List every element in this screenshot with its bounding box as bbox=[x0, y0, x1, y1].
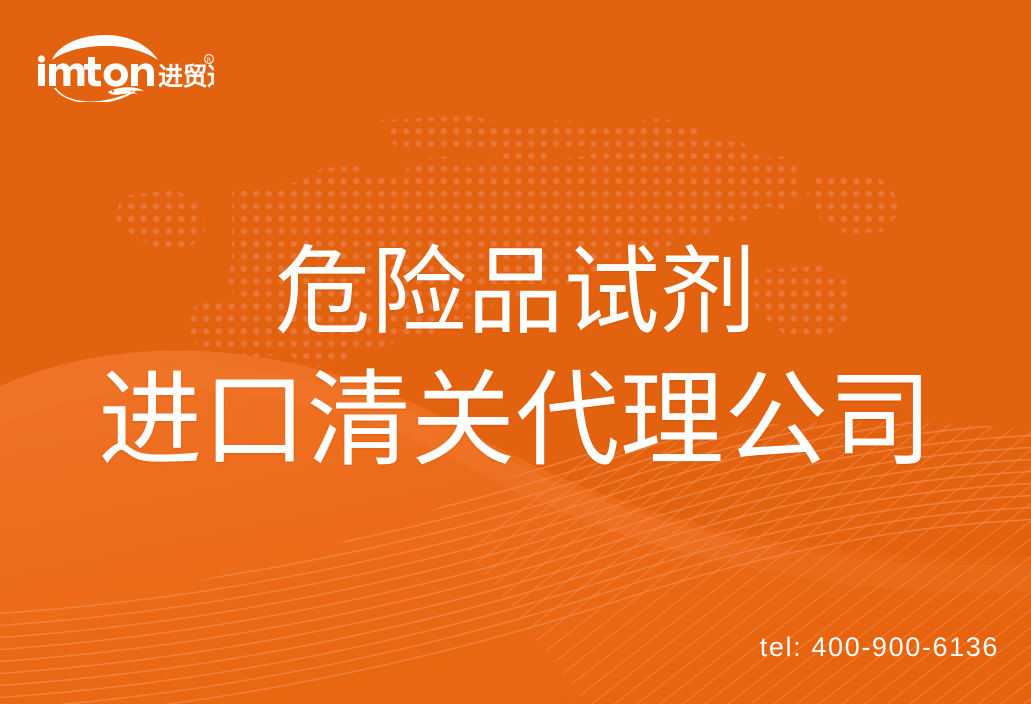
contact-phone[interactable]: tel: 400-900-6136 bbox=[760, 632, 999, 663]
page-title: 危险品试剂 进口清关代理公司 bbox=[0, 232, 1031, 488]
headline-line-2: 进口清关代理公司 bbox=[0, 355, 1031, 488]
svg-text:R: R bbox=[207, 57, 211, 64]
registered-trademark-icon: R bbox=[205, 55, 214, 64]
promo-banner: 进贸通 R 危险品试剂 进口清关代理公司 tel: 400-900-6136 bbox=[0, 0, 1031, 704]
swoosh-bird-icon bbox=[54, 87, 144, 102]
globe-arc-icon bbox=[52, 35, 158, 60]
logo-wordmark-latin bbox=[38, 55, 154, 86]
company-logo[interactable]: 进贸通 R bbox=[34, 30, 214, 102]
headline-line-1: 危险品试剂 bbox=[0, 232, 1031, 355]
logo-wordmark-chinese: 进贸通 bbox=[158, 62, 214, 91]
